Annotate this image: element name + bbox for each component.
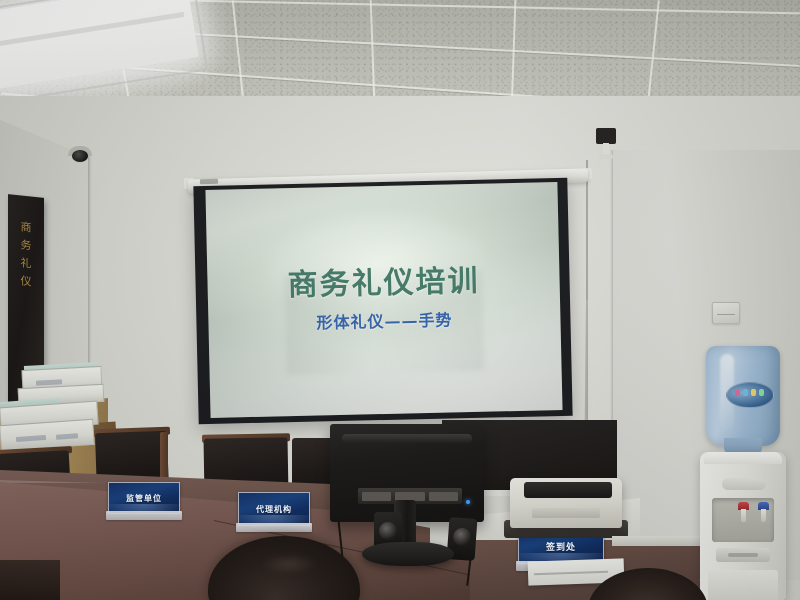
bottle-label	[726, 382, 774, 408]
drip-tray-grill	[728, 553, 758, 557]
nameplate-label: 监管单位	[126, 493, 162, 504]
water-bottle	[706, 346, 780, 446]
camera-base	[599, 154, 613, 159]
box-camera-icon	[596, 128, 616, 158]
camera-lens	[72, 150, 88, 162]
wall-plaque-text: 商 务 礼 仪	[14, 221, 38, 289]
wall-baseboard	[612, 536, 712, 546]
plaque-char: 仪	[21, 275, 32, 287]
printer-output-tray	[524, 482, 612, 498]
projector-screen[interactable]: 商务礼仪培训 形体礼仪——手势	[193, 178, 572, 424]
speaker-cone	[453, 527, 472, 546]
water-dispenser[interactable]	[700, 346, 786, 600]
nameplate-label: 签到处	[546, 540, 576, 553]
dispenser-alcove	[712, 498, 774, 542]
nameplate-card: 监管单位	[108, 482, 180, 514]
conference-room-photo: 商务礼仪培训 形体礼仪——手势 商 务 礼 仪 监管单	[0, 0, 800, 600]
hot-water-tap[interactable]	[738, 502, 749, 522]
plaque-char: 商	[21, 221, 32, 233]
dispenser-cabinet-door[interactable]	[708, 570, 778, 600]
screen-brand-logo	[200, 179, 218, 185]
monitor-vent-ridge	[342, 434, 472, 443]
projected-slide: 商务礼仪培训 形体礼仪——手势	[205, 182, 562, 418]
nameplate-stand	[106, 511, 182, 520]
nameplate-stand	[236, 523, 312, 532]
speaker-cone	[379, 522, 397, 540]
plaque-char: 礼	[21, 257, 32, 269]
dispenser-body	[700, 452, 786, 600]
printer-paper-tray	[532, 508, 600, 518]
laser-printer[interactable]	[510, 478, 622, 528]
monitor-stand-base	[362, 542, 454, 566]
wall-control-panel[interactable]	[712, 302, 740, 324]
dome-camera-icon	[68, 146, 92, 164]
dispenser-brand-plate	[722, 478, 766, 490]
power-led-indicator	[466, 500, 470, 504]
nameplate-label: 代理机构	[256, 504, 292, 515]
screen-vignette	[205, 182, 562, 418]
camera-body	[596, 128, 616, 144]
cold-water-tap[interactable]	[758, 502, 769, 522]
plaque-char: 务	[21, 239, 32, 251]
tap-spout	[741, 509, 746, 522]
tap-spout	[761, 509, 766, 522]
floor	[0, 560, 60, 600]
dispenser-top-cap	[704, 452, 782, 464]
hair-highlight	[260, 554, 318, 574]
nameplate-card: 代理机构	[238, 492, 310, 526]
